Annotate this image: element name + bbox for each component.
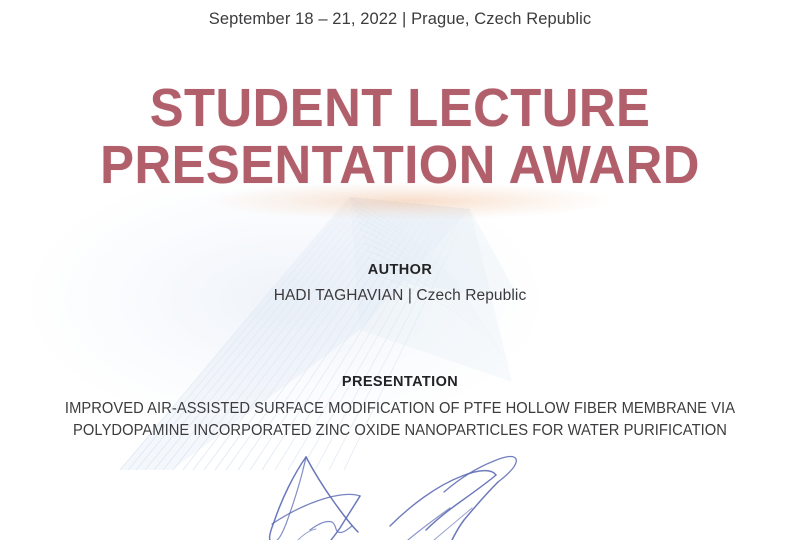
author-section: AUTHOR HADI TAGHAVIAN | Czech Republic <box>0 262 800 305</box>
certificate-content: September 18 – 21, 2022 | Prague, Czech … <box>0 0 800 540</box>
award-title-line-1: STUDENT LECTURE <box>24 80 776 137</box>
presentation-heading: PRESENTATION <box>0 374 800 390</box>
award-title-line-2: PRESENTATION AWARD <box>24 137 776 194</box>
presentation-title-line-1: IMPROVED AIR-ASSISTED SURFACE MODIFICATI… <box>20 398 780 420</box>
event-date-location: September 18 – 21, 2022 | Prague, Czech … <box>0 10 800 29</box>
presentation-section: PRESENTATION IMPROVED AIR-ASSISTED SURFA… <box>0 374 800 442</box>
signature-image <box>248 444 558 540</box>
certificate-page: September 18 – 21, 2022 | Prague, Czech … <box>0 0 800 540</box>
handwritten-signature-strokes <box>248 444 558 540</box>
author-value: HADI TAGHAVIAN | Czech Republic <box>0 287 800 305</box>
author-heading: AUTHOR <box>0 262 800 278</box>
award-title: STUDENT LECTURE PRESENTATION AWARD <box>24 80 776 194</box>
presentation-title-line-2: POLYDOPAMINE INCORPORATED ZINC OXIDE NAN… <box>20 420 780 442</box>
presentation-title: IMPROVED AIR-ASSISTED SURFACE MODIFICATI… <box>20 398 780 442</box>
